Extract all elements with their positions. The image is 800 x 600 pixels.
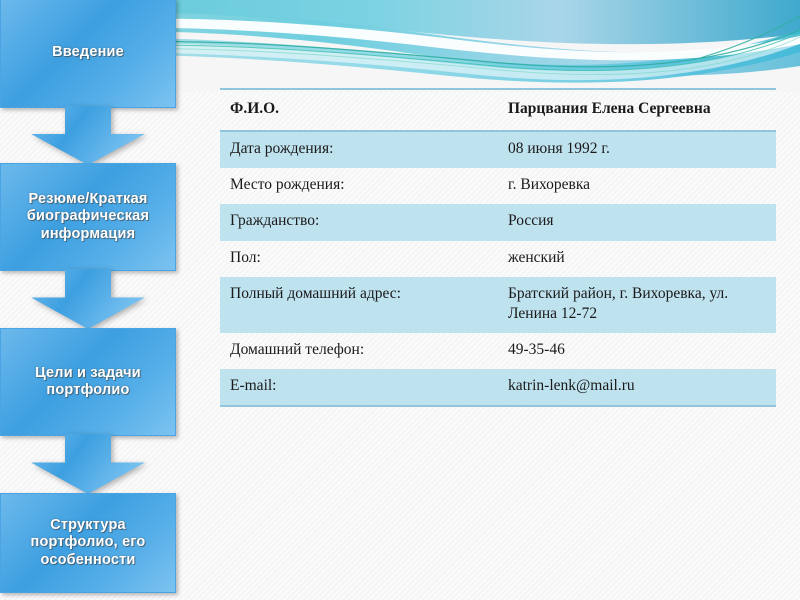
flow-step-label: Резюме/Краткая биографическая информация	[9, 191, 167, 242]
row-label: Гражданство:	[220, 204, 504, 240]
flow-step-resume[interactable]: Резюме/Краткая биографическая информация	[0, 163, 176, 271]
table-row: E-mail: katrin-lenk@mail.ru	[220, 369, 776, 406]
row-value: 49-35-46	[504, 333, 776, 369]
row-value: Россия	[504, 204, 776, 240]
table-row: Дата рождения: 08 июня 1992 г.	[220, 131, 776, 168]
row-value: г. Вихоревка	[504, 168, 776, 204]
flow-step-label: Цели и задачи портфолио	[9, 365, 167, 399]
table-row: Пол: женский	[220, 241, 776, 277]
row-label: Место рождения:	[220, 168, 504, 204]
slide-canvas: Введение Резюме/Краткая биографическая и…	[0, 0, 800, 600]
flow-step-label: Введение	[52, 44, 124, 61]
personal-info-table: Ф.И.О. Парцвания Елена Сергеевна Дата ро…	[220, 88, 776, 407]
row-label: Дата рождения:	[220, 131, 504, 168]
table-row: Ф.И.О. Парцвания Елена Сергеевна	[220, 89, 776, 131]
row-label: Ф.И.О.	[220, 89, 504, 131]
row-value: Братский район, г. Вихоревка, ул. Ленина…	[504, 277, 776, 333]
table-row: Место рождения: г. Вихоревка	[220, 168, 776, 204]
row-label: Домашний телефон:	[220, 333, 504, 369]
row-value: katrin-lenk@mail.ru	[504, 369, 776, 406]
table-row: Гражданство: Россия	[220, 204, 776, 240]
flow-step-goals[interactable]: Цели и задачи портфолио	[0, 328, 176, 436]
portfolio-flow-chart: Введение Резюме/Краткая биографическая и…	[0, 0, 178, 600]
table-row: Домашний телефон: 49-35-46	[220, 333, 776, 369]
table-row: Полный домашний адрес: Братский район, г…	[220, 277, 776, 333]
row-value: 08 июня 1992 г.	[504, 131, 776, 168]
down-arrow-icon-3	[27, 434, 149, 495]
flow-step-introduction[interactable]: Введение	[0, 0, 176, 108]
down-arrow-icon-1	[27, 106, 149, 166]
row-label: E-mail:	[220, 369, 504, 406]
row-label: Пол:	[220, 241, 504, 277]
flow-step-label: Структура портфолио, его особенности	[9, 517, 167, 568]
down-arrow-icon-2	[27, 269, 149, 330]
row-value: Парцвания Елена Сергеевна	[504, 89, 776, 131]
row-label: Полный домашний адрес:	[220, 277, 504, 333]
flow-step-structure[interactable]: Структура портфолио, его особенности	[0, 493, 176, 593]
row-value: женский	[504, 241, 776, 277]
